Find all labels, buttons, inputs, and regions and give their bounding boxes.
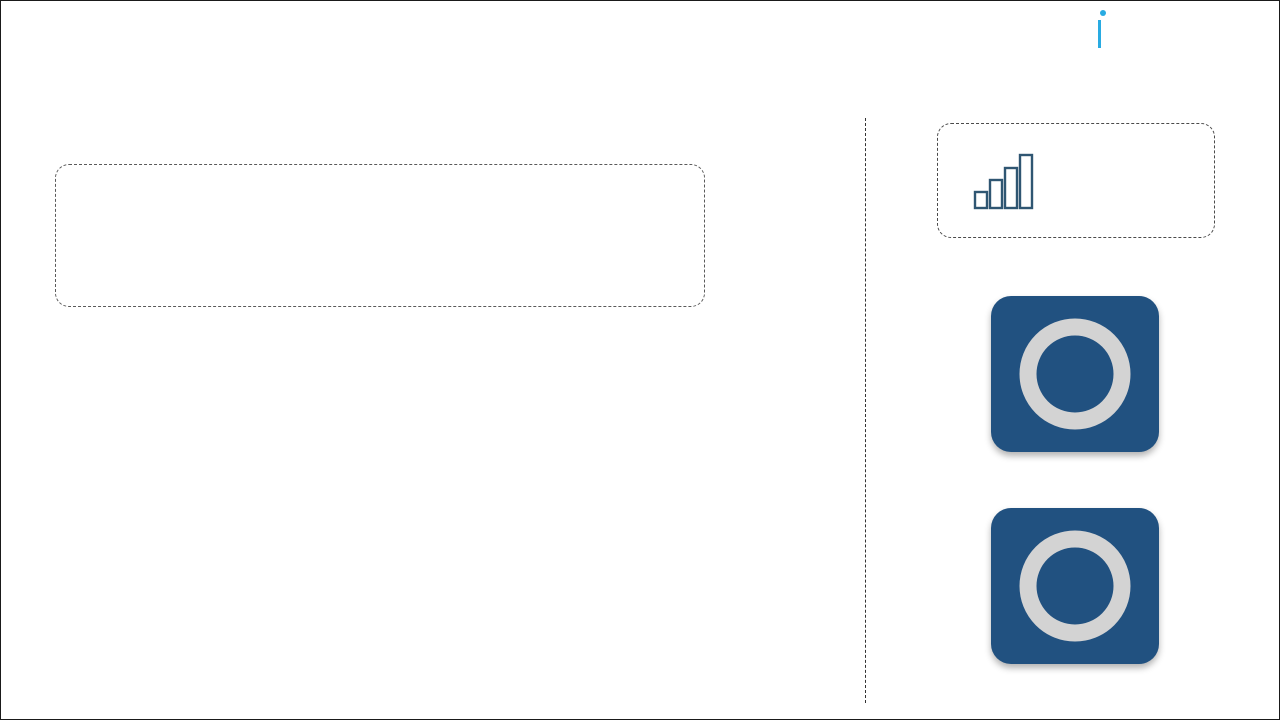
- list-item: [90, 271, 704, 302]
- largest-market-value: [991, 508, 1159, 664]
- list-item: [90, 210, 704, 241]
- growth-rate-bar-chart: [61, 331, 761, 711]
- list-item: [90, 240, 704, 271]
- list-item: [90, 179, 704, 210]
- highest-cagr-card: [991, 296, 1159, 452]
- highest-cagr-value: [991, 296, 1159, 452]
- cagr-summary-box: [937, 123, 1215, 238]
- infographic-page: [0, 0, 1280, 720]
- logo-dot-icon: [1100, 10, 1106, 16]
- chart-svg: [61, 331, 761, 681]
- technologies-list-box: [55, 164, 705, 307]
- bar-chart-icon: [972, 150, 1034, 212]
- logo-separator-bar: [1098, 20, 1101, 48]
- largest-market-card: [991, 508, 1159, 664]
- vertical-divider: [865, 118, 866, 703]
- imarc-logo: [1095, 15, 1267, 53]
